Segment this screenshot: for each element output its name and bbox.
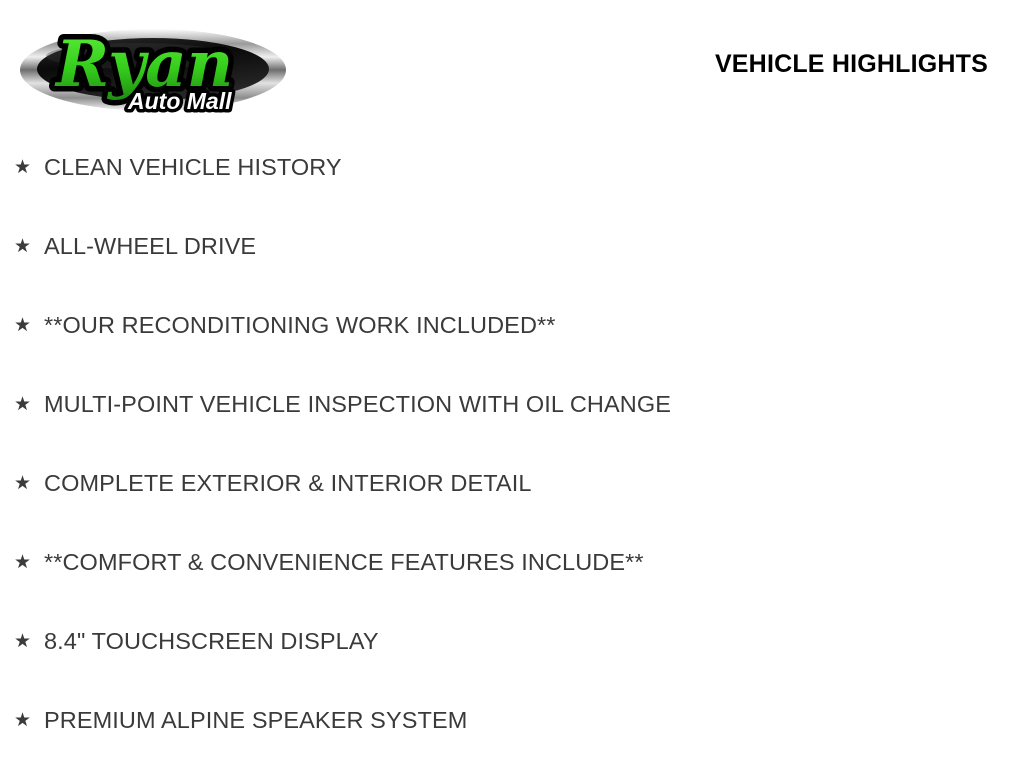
vehicle-highlights-list: ★ CLEAN VEHICLE HISTORY ★ ALL-WHEEL DRIV…: [0, 128, 1024, 760]
star-icon: ★: [14, 711, 44, 730]
list-item: ★ **OUR RECONDITIONING WORK INCLUDED**: [0, 286, 1024, 365]
list-item: ★ COMPLETE EXTERIOR & INTERIOR DETAIL: [0, 444, 1024, 523]
list-item-label: **COMFORT & CONVENIENCE FEATURES INCLUDE…: [44, 549, 1024, 576]
star-icon: ★: [14, 632, 44, 651]
svg-text:Auto Mall: Auto Mall: [127, 88, 232, 114]
ryan-auto-mall-logo: Ryan Ryan Auto Mall Auto Mall: [18, 14, 288, 118]
list-item-label: 8.4" TOUCHSCREEN DISPLAY: [44, 628, 1024, 655]
star-icon: ★: [14, 553, 44, 572]
list-item-label: PREMIUM ALPINE SPEAKER SYSTEM: [44, 707, 1024, 734]
star-icon: ★: [14, 474, 44, 493]
star-icon: ★: [14, 158, 44, 177]
page-header: Ryan Ryan Auto Mall Auto Mall VEHICLE HI…: [0, 0, 1024, 120]
list-item: ★ PREMIUM ALPINE SPEAKER SYSTEM: [0, 681, 1024, 760]
list-item: ★ MULTI-POINT VEHICLE INSPECTION WITH OI…: [0, 365, 1024, 444]
star-icon: ★: [14, 395, 44, 414]
list-item: ★ CLEAN VEHICLE HISTORY: [0, 128, 1024, 207]
vehicle-highlights-page: Ryan Ryan Auto Mall Auto Mall VEHICLE HI…: [0, 0, 1024, 768]
star-icon: ★: [14, 316, 44, 335]
list-item-label: CLEAN VEHICLE HISTORY: [44, 154, 1024, 181]
list-item: ★ **COMFORT & CONVENIENCE FEATURES INCLU…: [0, 523, 1024, 602]
list-item-label: **OUR RECONDITIONING WORK INCLUDED**: [44, 312, 1024, 339]
star-icon: ★: [14, 237, 44, 256]
page-title: VEHICLE HIGHLIGHTS: [715, 50, 988, 79]
list-item: ★ ALL-WHEEL DRIVE: [0, 207, 1024, 286]
list-item-label: ALL-WHEEL DRIVE: [44, 233, 1024, 260]
dealer-logo-icon: Ryan Ryan Auto Mall Auto Mall: [18, 14, 288, 118]
list-item: ★ 8.4" TOUCHSCREEN DISPLAY: [0, 602, 1024, 681]
list-item-label: MULTI-POINT VEHICLE INSPECTION WITH OIL …: [44, 391, 1024, 418]
list-item-label: COMPLETE EXTERIOR & INTERIOR DETAIL: [44, 470, 1024, 497]
